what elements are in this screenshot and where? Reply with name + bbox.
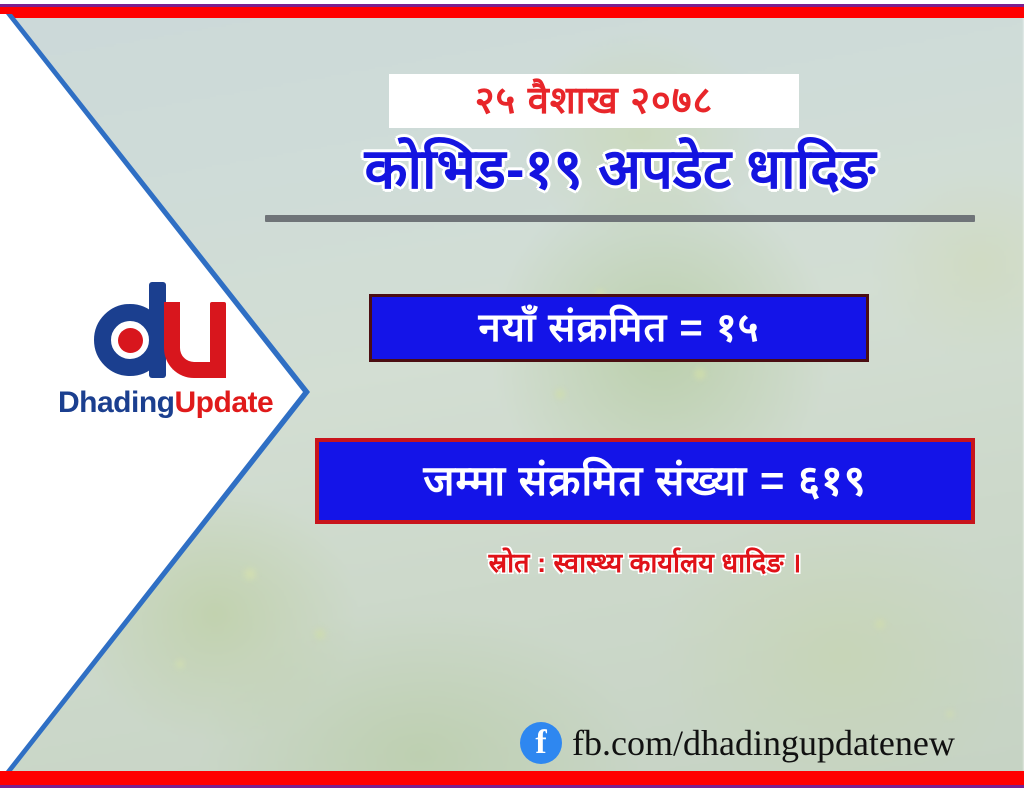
covid-update-poster: DhadingUpdate २५ वैशाख २०७८ कोभिड-१९ अपड… (0, 0, 1024, 796)
source-attribution: स्रोत : स्वास्थ्य कार्यालय धादिङ । (315, 543, 975, 580)
title-underline-rule (265, 215, 975, 222)
bottom-red-bar (0, 771, 1024, 788)
stat-new-cases-label: नयाँ संक्रमित = १५ (479, 308, 760, 348)
brand-name-part-b: Update (175, 386, 274, 419)
date-banner: २५ वैशाख २०७८ (389, 74, 799, 128)
logo-u-stem (210, 302, 226, 378)
brand-logo: DhadingUpdate (58, 280, 273, 420)
facebook-footer[interactable]: fb.com/dhadingupdatenew (520, 718, 955, 768)
logo-red-dot (118, 328, 143, 353)
stat-box-new-cases: नयाँ संक्रमित = १५ (369, 294, 869, 362)
page-title: कोभिड-१९ अपडेट धादिङ (255, 140, 985, 199)
stat-box-total-cases: जम्मा संक्रमित संख्या = ६१९ (315, 438, 975, 524)
facebook-url[interactable]: fb.com/dhadingupdatenew (572, 725, 955, 761)
brand-wordmark: DhadingUpdate (58, 386, 273, 420)
du-monogram-icon (86, 280, 246, 380)
stat-total-cases-label: जम्मा संक्रमित संख्या = ६१९ (423, 460, 866, 502)
brand-name-part-a: Dhading (58, 386, 175, 419)
top-red-bar (0, 4, 1024, 18)
date-text: २५ वैशाख २०७८ (475, 82, 714, 120)
logo-d-stem (149, 282, 166, 378)
facebook-icon[interactable] (520, 722, 562, 764)
